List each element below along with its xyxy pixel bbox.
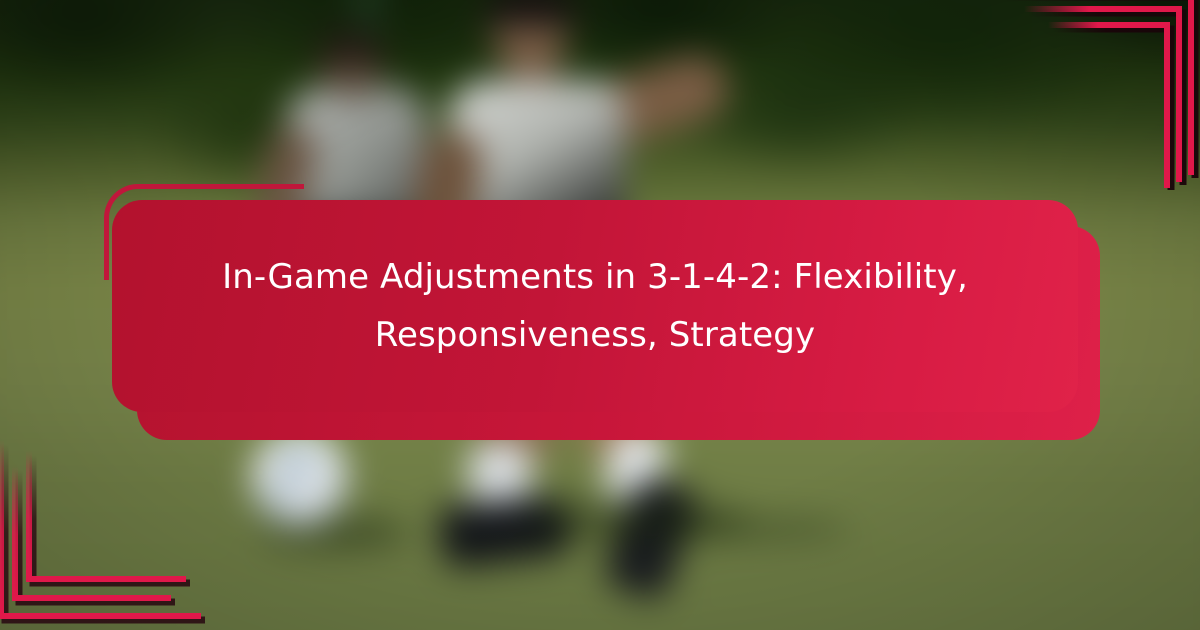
page-title: In-Game Adjustments in 3-1-4-2: Flexibil… — [112, 200, 1078, 412]
page-title-line-2: Responsiveness, Strategy — [375, 306, 815, 364]
title-card-stack: In-Game Adjustments in 3-1-4-2: Flexibil… — [0, 0, 1200, 630]
page-title-line-1: In-Game Adjustments in 3-1-4-2: Flexibil… — [222, 248, 968, 306]
social-card-canvas: In-Game Adjustments in 3-1-4-2: Flexibil… — [0, 0, 1200, 630]
